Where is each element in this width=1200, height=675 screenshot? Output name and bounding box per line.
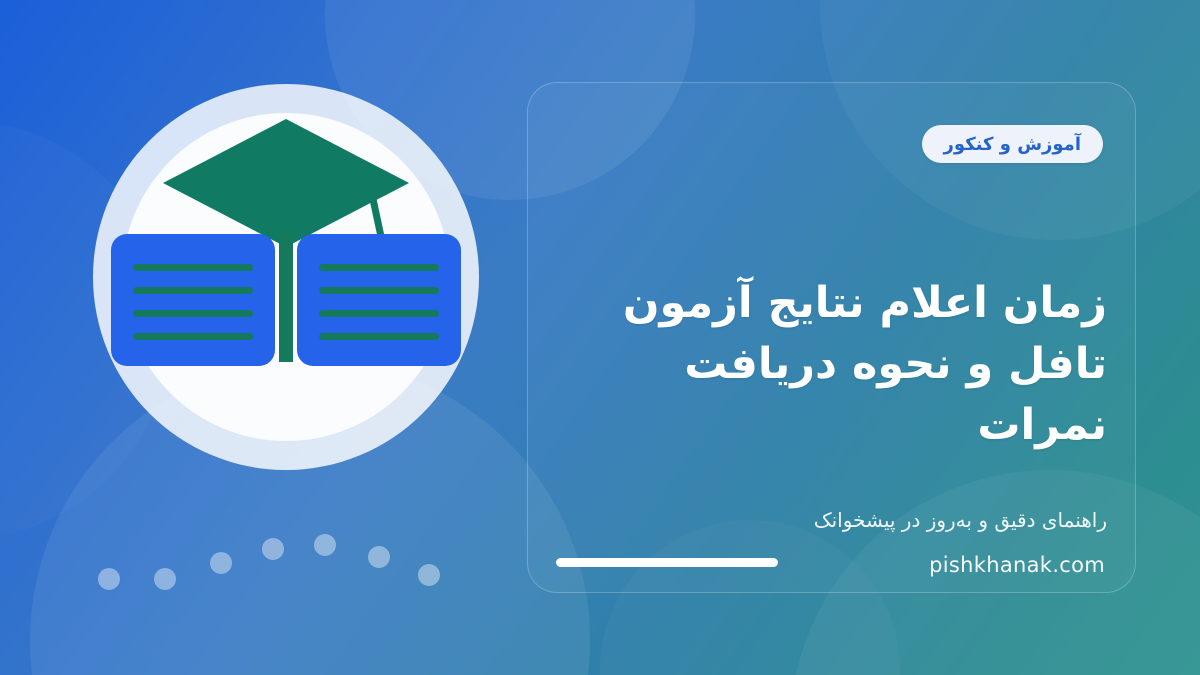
decorative-dot — [418, 564, 440, 586]
graduation-cap-and-open-book-icon — [93, 84, 479, 470]
decorative-dot — [368, 546, 390, 568]
category-badge[interactable]: آموزش و کنکور — [922, 125, 1103, 163]
page-title-line-2: تافل و نحوه دریافت نمرات — [556, 334, 1107, 456]
decorative-dot — [314, 534, 336, 556]
decorative-dot-arc — [70, 520, 470, 610]
decorative-dot — [262, 538, 284, 560]
decorative-dot — [210, 552, 232, 574]
subtitle: راهنمای دقیق و به‌روز در پیشخوانک — [556, 505, 1107, 535]
accent-bar — [556, 558, 778, 567]
page-title-line-1: زمان اعلام نتایج آزمون — [556, 273, 1107, 334]
decorative-dot — [154, 568, 176, 590]
promo-banner: آموزش و کنکور زمان اعلام نتایج آزمون تاف… — [0, 0, 1200, 675]
site-url: pishkhanak.com — [929, 553, 1105, 577]
decorative-dot — [98, 568, 120, 590]
category-badge-label: آموزش و کنکور — [944, 134, 1081, 155]
emblem — [93, 84, 479, 470]
page-title: زمان اعلام نتایج آزمون تافل و نحوه دریاف… — [556, 273, 1107, 456]
content-card: آموزش و کنکور زمان اعلام نتایج آزمون تاف… — [527, 82, 1136, 593]
